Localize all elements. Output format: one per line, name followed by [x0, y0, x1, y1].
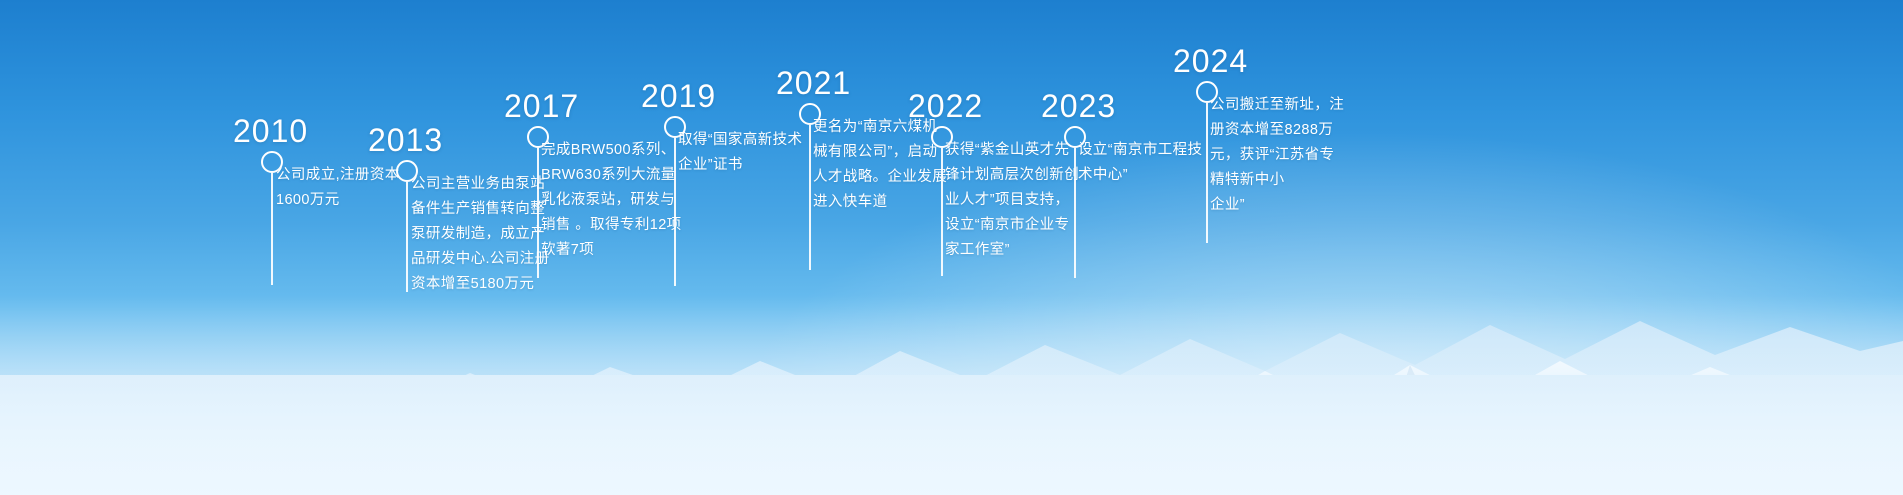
milestone-year-label: 2013: [368, 122, 443, 159]
milestone-stem-line: [1074, 148, 1076, 278]
milestone-year-label: 2024: [1173, 43, 1248, 80]
milestone-year-label: 2021: [776, 65, 851, 102]
milestone-stem-line: [1206, 103, 1208, 243]
timeline-infographic: 2010公司成立,注册资本 1600万元2013公司主营业务由泵站 备件生产销售…: [0, 0, 1903, 495]
milestone-stem-line: [941, 148, 943, 276]
milestone-year-label: 2019: [641, 78, 716, 115]
milestone-year-label: 2017: [504, 88, 579, 125]
milestone-year-label: 2023: [1041, 88, 1116, 125]
milestone-description: 公司搬迁至新址，注 册资本增至8288万 元，获评“江苏省专 精特新中小 企业”: [1210, 93, 1400, 218]
milestone-year-label: 2022: [908, 88, 983, 125]
milestone-stem-line: [537, 148, 539, 278]
atmospheric-haze: [0, 295, 1903, 495]
milestone-stem-line: [271, 173, 273, 285]
milestone-stem-line: [406, 182, 408, 292]
milestone-year-label: 2010: [233, 113, 308, 150]
milestone-stem-line: [674, 138, 676, 286]
milestone-stem-line: [809, 125, 811, 270]
